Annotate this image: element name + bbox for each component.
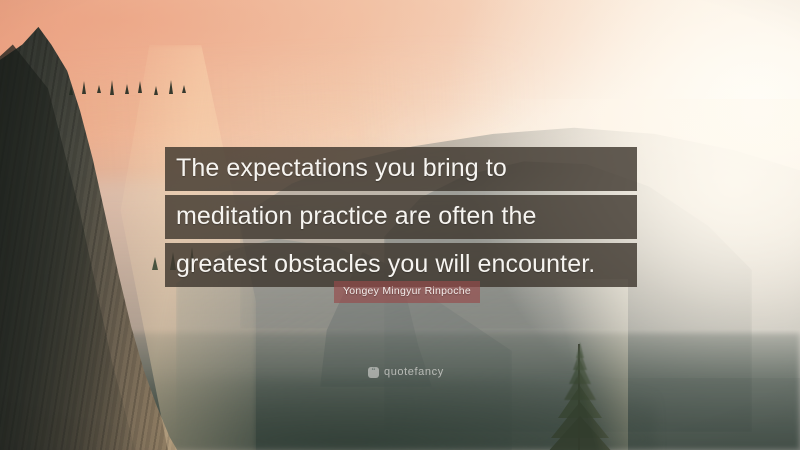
quotefancy-watermark[interactable]: “ quotefancy [368, 366, 444, 378]
watermark-brand-label: quotefancy [384, 366, 444, 378]
attribution-block: Yongey Mingyur Rinpoche [334, 281, 480, 303]
ridge-tree [97, 85, 101, 93]
quote-block: The expectations you bring to meditation… [165, 147, 637, 287]
quote-line-1: The expectations you bring to [165, 147, 637, 191]
cliff-ledge-tree [152, 257, 158, 270]
ridge-tree [154, 86, 158, 95]
ridge-tree [182, 85, 186, 93]
quote-wallpaper-image: The expectations you bring to meditation… [0, 0, 800, 450]
ridge-tree [138, 81, 142, 93]
ridge-tree [125, 84, 129, 94]
ridge-tree-cluster [64, 41, 192, 95]
ridge-tree [82, 81, 86, 94]
ridge-tree [110, 80, 114, 95]
quote-author: Yongey Mingyur Rinpoche [334, 281, 480, 303]
quote-line-2: meditation practice are often the [165, 195, 637, 239]
foreground-conifer-tree [532, 279, 628, 450]
quote-mark-glyph: “ [372, 367, 376, 375]
quote-mark-icon: “ [368, 367, 379, 378]
ridge-tree [169, 80, 173, 94]
ridge-tree [69, 86, 73, 95]
conifer-tier [546, 416, 614, 450]
